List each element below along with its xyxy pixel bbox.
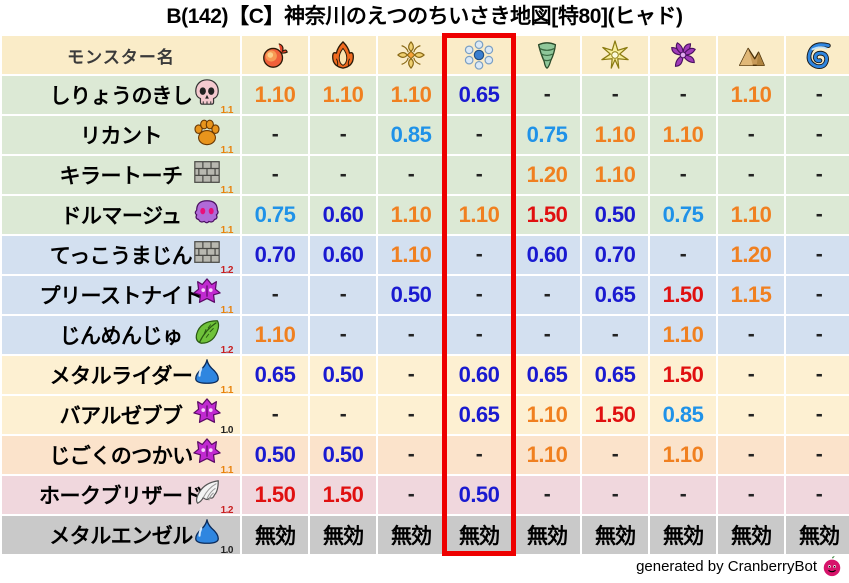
monster-name-label: キラートーチ — [60, 160, 183, 190]
monster-version-label: 1.2 — [221, 506, 233, 516]
table-row: バアルゼブブ1.0---0.651.101.500.85-- — [2, 396, 849, 434]
resistance-cell[interactable]: 無効 — [378, 516, 444, 554]
resistance-cell[interactable]: 無効 — [718, 516, 784, 554]
monster-badge: 1.0 — [190, 517, 234, 553]
table-row: じんめんじゅ1.21.10-----1.10-- — [2, 316, 849, 354]
resistance-cell[interactable]: - — [786, 116, 849, 154]
monster-name-cell[interactable]: メタルライダー1.1 — [2, 356, 240, 394]
monster-version-label: 1.2 — [221, 346, 233, 356]
resistance-cell[interactable]: 1.10 — [310, 76, 376, 114]
resistance-cell[interactable]: - — [650, 476, 716, 514]
resistance-cell[interactable]: - — [310, 316, 376, 354]
resistance-cell[interactable]: - — [378, 316, 444, 354]
resistance-cell[interactable]: 1.10 — [718, 196, 784, 234]
resistance-cell[interactable]: 1.10 — [650, 316, 716, 354]
monster-badge: 1.2 — [190, 477, 234, 513]
resistance-cell[interactable]: 0.70 — [242, 236, 308, 274]
resistance-cell[interactable]: - — [310, 276, 376, 314]
monster-badge: 1.1 — [190, 157, 234, 193]
doruma-pinwheel-icon — [668, 40, 698, 70]
table-row: じごくのつかい1.10.500.50--1.10-1.10-- — [2, 436, 849, 474]
monster-name-cell[interactable]: じごくのつかい1.1 — [2, 436, 240, 474]
resistance-cell[interactable]: - — [446, 436, 512, 474]
resistance-cell[interactable]: 0.70 — [582, 236, 648, 274]
page-title: B(142)【C】神奈川のえつのちいさき地図[特80](ヒャド) — [0, 2, 849, 32]
resistance-cell[interactable]: - — [378, 356, 444, 394]
footer-credit: generated by CranberryBot — [636, 553, 843, 579]
resistance-cell[interactable]: - — [310, 396, 376, 434]
resistance-cell[interactable]: - — [378, 396, 444, 434]
monster-version-label: 1.1 — [221, 186, 233, 196]
column-header-jibaria-mountain[interactable] — [718, 36, 784, 74]
resistance-cell[interactable]: - — [242, 156, 308, 194]
resistance-table: モンスター名 しりょうのきし1.11.101.101.100.65---1.10… — [0, 34, 849, 556]
resistance-cell[interactable]: 1.10 — [378, 196, 444, 234]
resistance-cell[interactable]: 0.50 — [446, 476, 512, 514]
resistance-cell[interactable]: 1.10 — [582, 156, 648, 194]
resistance-cell[interactable]: 1.10 — [650, 436, 716, 474]
resistance-cell[interactable]: - — [718, 316, 784, 354]
resistance-cell[interactable]: 1.10 — [718, 76, 784, 114]
monster-version-label: 1.0 — [221, 546, 233, 556]
resistance-cell[interactable]: 0.75 — [242, 196, 308, 234]
monster-badge: 1.1 — [190, 277, 234, 313]
resistance-cell[interactable]: - — [378, 436, 444, 474]
monster-name-label: バアルゼブブ — [60, 400, 183, 430]
monster-name-label: メタルエンゼル — [49, 520, 193, 550]
resistance-cell[interactable]: 1.10 — [242, 316, 308, 354]
monster-version-label: 1.1 — [221, 306, 233, 316]
monster-version-label: 1.1 — [221, 226, 233, 236]
monster-name-cell[interactable]: キラートーチ1.1 — [2, 156, 240, 194]
resistance-cell[interactable]: - — [310, 156, 376, 194]
resistance-cell[interactable]: 0.50 — [378, 276, 444, 314]
resistance-cell[interactable]: 1.10 — [514, 436, 580, 474]
monster-name-cell[interactable]: てっこうまじん1.2 — [2, 236, 240, 274]
wave-icon — [804, 40, 834, 70]
resistance-cell[interactable]: 0.60 — [446, 356, 512, 394]
resistance-cell[interactable]: - — [650, 76, 716, 114]
dein-star-icon — [600, 40, 630, 70]
monster-version-label: 1.1 — [221, 146, 233, 156]
resistance-cell[interactable]: - — [446, 236, 512, 274]
resistance-cell[interactable]: - — [786, 236, 849, 274]
table-row: しりょうのきし1.11.101.101.100.65---1.10- — [2, 76, 849, 114]
resistance-cell[interactable]: - — [582, 476, 648, 514]
resistance-cell[interactable]: 0.85 — [650, 396, 716, 434]
wing-icon — [192, 477, 222, 507]
resistance-cell[interactable]: - — [786, 76, 849, 114]
monster-badge: 1.2 — [190, 237, 234, 273]
resistance-cell[interactable]: 0.85 — [378, 116, 444, 154]
monster-name-label: プリーストナイト — [40, 280, 203, 310]
resistance-cell[interactable]: 1.10 — [446, 196, 512, 234]
monster-name-cell[interactable]: リカント1.1 — [2, 116, 240, 154]
monster-badge: 1.1 — [190, 117, 234, 153]
ghost-icon — [192, 197, 222, 227]
resistance-cell[interactable]: 0.50 — [582, 196, 648, 234]
monster-name-label: じんめんじゅ — [60, 320, 183, 350]
resistance-cell[interactable]: 0.65 — [446, 396, 512, 434]
column-header-io-burst[interactable] — [378, 36, 444, 74]
footer-text: generated by CranberryBot — [636, 558, 817, 575]
resistance-cell[interactable]: 0.50 — [310, 356, 376, 394]
resistance-cell[interactable]: 1.10 — [582, 116, 648, 154]
resistance-cell[interactable]: 0.65 — [582, 276, 648, 314]
resistance-cell[interactable]: - — [786, 436, 849, 474]
resistance-cell[interactable]: 1.50 — [650, 276, 716, 314]
leaf-icon — [192, 317, 222, 347]
resistance-cell[interactable]: 1.20 — [718, 236, 784, 274]
monster-badge: 1.0 — [190, 397, 234, 433]
slime-icon — [192, 357, 222, 387]
monster-name-cell[interactable]: プリーストナイト1.1 — [2, 276, 240, 314]
resistance-cell[interactable]: - — [718, 396, 784, 434]
resistance-cell[interactable]: - — [582, 436, 648, 474]
monster-name-cell[interactable]: じんめんじゅ1.2 — [2, 316, 240, 354]
resistance-cell[interactable]: - — [514, 476, 580, 514]
resistance-cell[interactable]: 0.65 — [582, 356, 648, 394]
table-row: ドルマージュ1.10.750.601.101.101.500.500.751.1… — [2, 196, 849, 234]
monster-name-label: メタルライダー — [50, 360, 193, 390]
column-header-bagi-tornado[interactable] — [514, 36, 580, 74]
brick-icon — [192, 237, 222, 267]
io-burst-icon — [396, 40, 426, 70]
table-row: ホークブリザード1.21.501.50-0.50----- — [2, 476, 849, 514]
resistance-cell[interactable]: 0.60 — [310, 196, 376, 234]
monster-name-label: てっこうまじん — [50, 240, 192, 270]
resistance-cell[interactable]: 1.50 — [514, 196, 580, 234]
demon-crest-icon — [192, 277, 222, 307]
resistance-cell[interactable]: - — [650, 236, 716, 274]
resistance-cell[interactable]: 0.60 — [514, 236, 580, 274]
resistance-cell[interactable]: 0.75 — [650, 196, 716, 234]
demon-crest-icon — [192, 437, 222, 467]
resistance-cell[interactable]: 1.10 — [514, 396, 580, 434]
resistance-cell[interactable]: 無効 — [446, 516, 512, 554]
resistance-cell[interactable]: 0.50 — [310, 436, 376, 474]
resistance-cell[interactable]: 1.10 — [378, 236, 444, 274]
resistance-cell[interactable]: 無効 — [582, 516, 648, 554]
resistance-cell[interactable]: - — [786, 276, 849, 314]
resistance-cell[interactable]: 0.65 — [514, 356, 580, 394]
monster-version-label: 1.2 — [221, 266, 233, 276]
resistance-cell[interactable]: - — [582, 316, 648, 354]
resistance-cell[interactable]: - — [582, 76, 648, 114]
resistance-cell[interactable]: - — [786, 196, 849, 234]
monster-name-label: ホークブリザード — [39, 480, 203, 510]
resistance-cell[interactable]: - — [718, 356, 784, 394]
column-header-mera-fireball[interactable] — [242, 36, 308, 74]
resistance-cell[interactable]: - — [446, 276, 512, 314]
resistance-cell[interactable]: - — [718, 476, 784, 514]
monster-badge: 1.1 — [190, 77, 234, 113]
resistance-cell[interactable]: 0.60 — [310, 236, 376, 274]
monster-name-cell[interactable]: バアルゼブブ1.0 — [2, 396, 240, 434]
monster-badge: 1.1 — [190, 357, 234, 393]
monster-name-label: リカント — [80, 120, 162, 150]
resistance-cell[interactable]: - — [514, 316, 580, 354]
monster-version-label: 1.1 — [221, 466, 233, 476]
resistance-cell[interactable]: - — [446, 156, 512, 194]
resistance-cell[interactable]: 1.50 — [650, 356, 716, 394]
monster-name-label: しりょうのきし — [50, 80, 193, 110]
resistance-cell[interactable]: - — [786, 316, 849, 354]
resistance-cell[interactable]: - — [786, 476, 849, 514]
monster-version-label: 1.0 — [221, 426, 233, 436]
resistance-cell[interactable]: - — [242, 396, 308, 434]
resistance-cell[interactable]: 1.10 — [242, 76, 308, 114]
monster-version-label: 1.1 — [221, 106, 233, 116]
monster-name-cell[interactable]: ホークブリザード1.2 — [2, 476, 240, 514]
cranberry-icon — [821, 555, 843, 577]
resistance-cell[interactable]: - — [446, 116, 512, 154]
slime-icon — [192, 517, 222, 547]
resistance-cell[interactable]: - — [718, 436, 784, 474]
table-header-row: モンスター名 — [2, 36, 849, 74]
resistance-cell[interactable]: - — [446, 316, 512, 354]
resistance-cell[interactable]: 無効 — [514, 516, 580, 554]
resistance-cell[interactable]: - — [718, 156, 784, 194]
resistance-cell[interactable]: - — [786, 396, 849, 434]
monster-name-cell[interactable]: メタルエンゼル1.0 — [2, 516, 240, 554]
resistance-cell[interactable]: 0.75 — [514, 116, 580, 154]
resistance-cell[interactable]: - — [718, 116, 784, 154]
skull-icon — [192, 77, 222, 107]
table-row: キラートーチ1.1----1.201.10--- — [2, 156, 849, 194]
resistance-cell[interactable]: 1.50 — [310, 476, 376, 514]
resistance-cell[interactable]: 1.50 — [582, 396, 648, 434]
monster-name-cell[interactable]: ドルマージュ1.1 — [2, 196, 240, 234]
monster-version-label: 1.1 — [221, 386, 233, 396]
resistance-cell[interactable]: 無効 — [650, 516, 716, 554]
resistance-cell[interactable]: 無効 — [242, 516, 308, 554]
resistance-cell[interactable]: - — [650, 156, 716, 194]
resistance-cell[interactable]: 1.10 — [650, 116, 716, 154]
paw-icon — [192, 117, 222, 147]
resistance-cell[interactable]: - — [242, 116, 308, 154]
table-row: メタルライダー1.10.650.50-0.600.650.651.50-- — [2, 356, 849, 394]
resistance-cell[interactable]: 無効 — [310, 516, 376, 554]
resistance-cell[interactable]: - — [310, 116, 376, 154]
monster-badge: 1.1 — [190, 437, 234, 473]
resistance-cell[interactable]: 0.65 — [446, 76, 512, 114]
column-header-monster-name: モンスター名 — [2, 36, 240, 74]
table-row: てっこうまじん1.20.700.601.10-0.600.70-1.20- — [2, 236, 849, 274]
table-row: プリーストナイト1.1--0.50--0.651.501.15- — [2, 276, 849, 314]
column-header-dein-star[interactable] — [582, 36, 648, 74]
resistance-table-page: B(142)【C】神奈川のえつのちいさき地図[特80](ヒャド) モンスター名 … — [0, 0, 849, 583]
jibaria-mountain-icon — [736, 40, 766, 70]
column-header-hyado-snowflake[interactable] — [446, 36, 512, 74]
resistance-cell[interactable]: - — [514, 276, 580, 314]
resistance-cell[interactable]: 1.20 — [514, 156, 580, 194]
resistance-cell[interactable]: - — [378, 476, 444, 514]
monster-badge: 1.2 — [190, 317, 234, 353]
column-header-gira-flame[interactable] — [310, 36, 376, 74]
monster-name-label: ドルマージュ — [60, 200, 181, 230]
column-header-doruma-pinwheel[interactable] — [650, 36, 716, 74]
resistance-cell[interactable]: 0.65 — [242, 356, 308, 394]
resistance-cell[interactable]: - — [786, 356, 849, 394]
resistance-cell[interactable]: 1.50 — [242, 476, 308, 514]
gira-flame-icon — [328, 40, 358, 70]
resistance-cell[interactable]: 1.15 — [718, 276, 784, 314]
resistance-cell[interactable]: - — [242, 276, 308, 314]
brick-icon — [192, 157, 222, 187]
resistance-cell[interactable]: 無効 — [786, 516, 849, 554]
resistance-cell[interactable]: - — [786, 156, 849, 194]
monster-name-label: じごくのつかい — [49, 440, 193, 470]
table-row: リカント1.1--0.85-0.751.101.10-- — [2, 116, 849, 154]
mera-fireball-icon — [260, 40, 290, 70]
monster-badge: 1.1 — [190, 197, 234, 233]
resistance-cell[interactable]: 0.50 — [242, 436, 308, 474]
resistance-cell[interactable]: - — [514, 76, 580, 114]
demon-crest-icon — [192, 397, 222, 427]
resistance-cell[interactable]: - — [378, 156, 444, 194]
monster-name-cell[interactable]: しりょうのきし1.1 — [2, 76, 240, 114]
resistance-cell[interactable]: 1.10 — [378, 76, 444, 114]
bagi-tornado-icon — [532, 40, 562, 70]
hyado-snowflake-icon — [464, 40, 494, 70]
table-row: メタルエンゼル1.0無効無効無効無効無効無効無効無効無効 — [2, 516, 849, 554]
column-header-wave[interactable] — [786, 36, 849, 74]
